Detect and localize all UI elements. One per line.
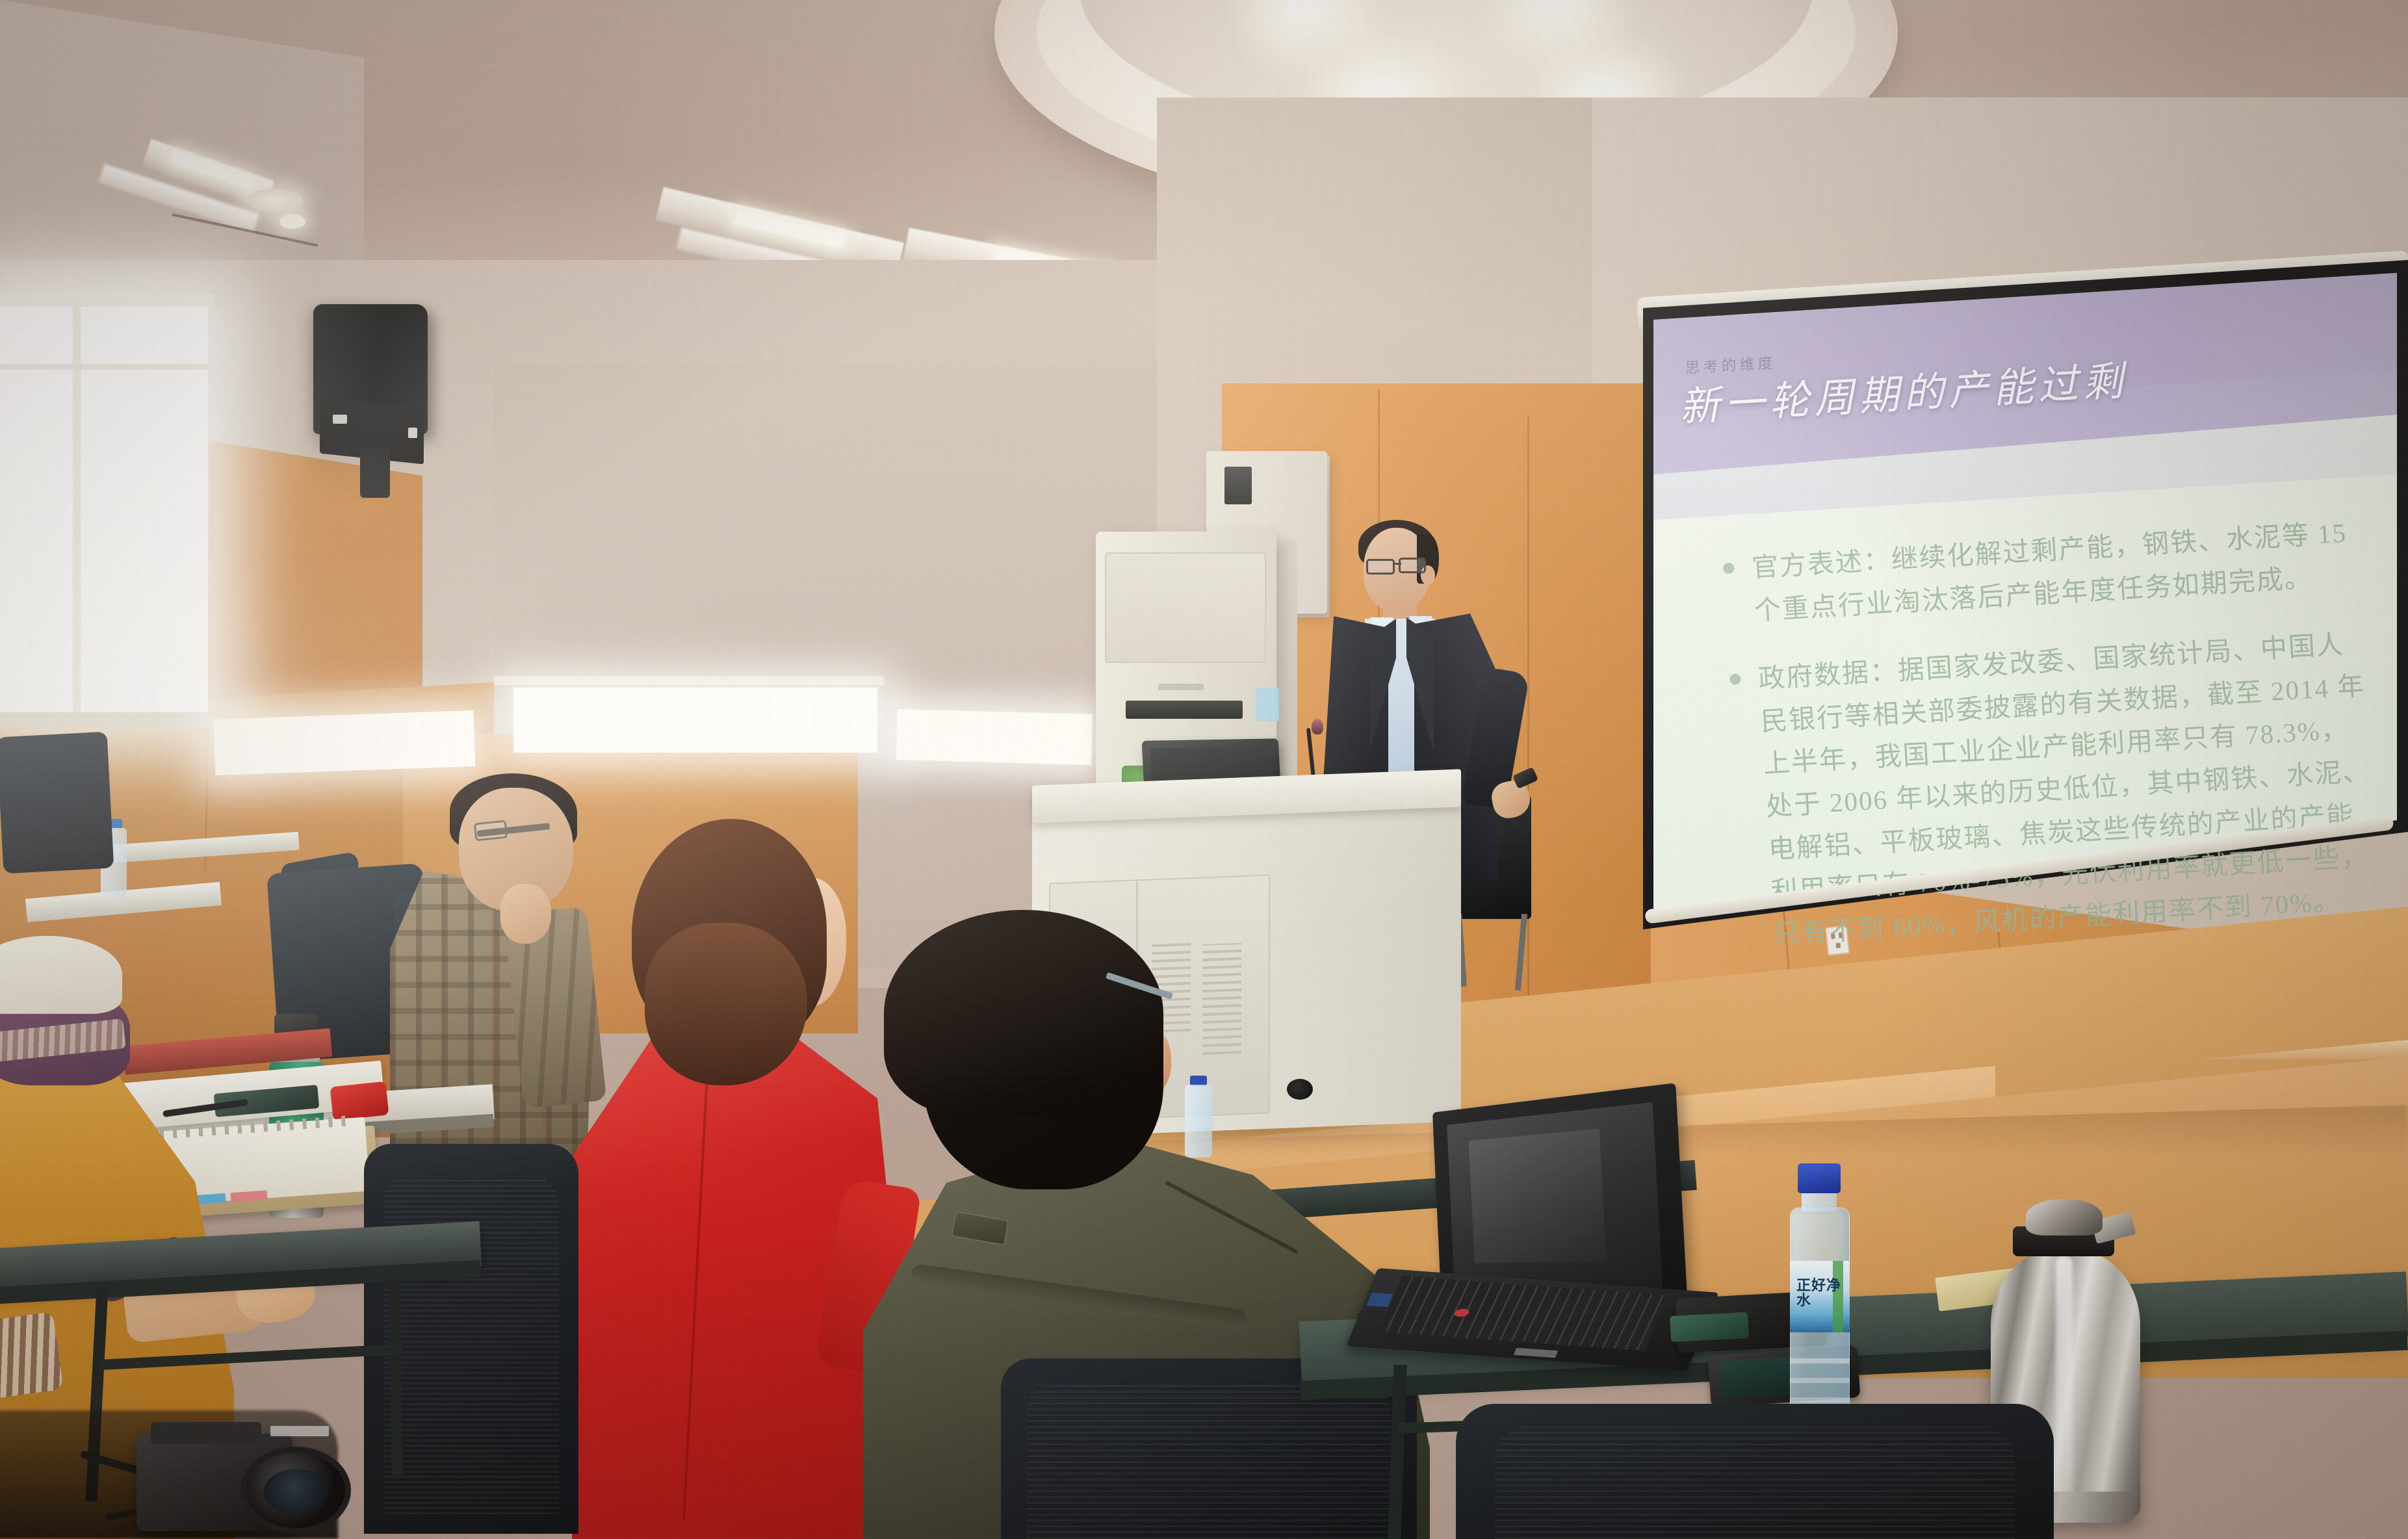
window-back-right xyxy=(896,709,1093,765)
bottle-rib-1 xyxy=(1790,1358,1850,1364)
bullet-dot-icon xyxy=(1729,673,1741,685)
slide-bullet-2: 政府数据：据国家发改委、国家统计局、中国人民银行等相关部委披露的有关数据，截至 … xyxy=(1721,622,2387,959)
bottle-label-text: 正好净水 xyxy=(1796,1278,1843,1308)
camera-top-plate xyxy=(151,1422,261,1444)
audience-hand xyxy=(500,884,551,944)
slide-content: 思考的维度 新一轮周期的产能过剩 官方表述：继续化解过剩产能，钢铁、水泥等 15… xyxy=(1620,216,2408,931)
bullet-dot-icon xyxy=(1723,562,1735,574)
slide-bullet-2-text: 政府数据：据国家发改委、国家统计局、中国人民银行等相关部委披露的有关数据，截至 … xyxy=(1757,629,2371,949)
green-pouch[interactable] xyxy=(1670,1312,1749,1342)
camera-brand-mark xyxy=(270,1426,329,1436)
audience-hair-lower xyxy=(645,923,807,1085)
bottle-rib-3 xyxy=(1790,1397,1850,1403)
window-left-header xyxy=(0,294,214,307)
water-bottle[interactable]: 正好净水 xyxy=(1781,1163,1859,1443)
ac-vent xyxy=(1126,701,1243,719)
window-left-sill xyxy=(0,712,214,727)
slide-bullet-list: 官方表述：继续化解过剩产能，钢铁、水泥等 15 个重点行业淘汰落后产能年度任务如… xyxy=(1714,511,2389,984)
glasses-icon xyxy=(1366,559,1395,575)
thermos-highlight xyxy=(2056,1255,2073,1515)
laptop-screen-glare xyxy=(1469,1128,1607,1263)
wall-downlight-1 xyxy=(247,188,303,212)
glasses-icon xyxy=(1399,558,1426,573)
window-back-center xyxy=(513,688,877,753)
conference-room-photo: 思考的维度 新一轮周期的产能过剩 官方表述：继续化解过剩产能，钢铁、水泥等 15… xyxy=(0,0,2408,1539)
camera-lens-glass xyxy=(264,1469,329,1514)
bottle-neck xyxy=(1802,1191,1837,1211)
slide-bullet-1: 官方表述：继续化解过剩产能，钢铁、水泥等 15 个重点行业淘汰落后产能年度任务如… xyxy=(1714,511,2368,634)
ac-energy-label xyxy=(1256,688,1279,721)
thermos-cap[interactable] xyxy=(2026,1199,2103,1235)
camera xyxy=(78,1417,357,1539)
projection-screen: 思考的维度 新一轮周期的产能过剩 官方表述：继续化解过剩产能，钢铁、水泥等 15… xyxy=(1625,260,2408,929)
audience-hair xyxy=(884,910,1163,1118)
electrical-cabinet-panel xyxy=(1224,467,1252,504)
window-back-left xyxy=(214,710,476,775)
white-hat xyxy=(0,936,122,1014)
speaker-badge-2 xyxy=(408,428,417,438)
glasses-bridge xyxy=(1393,563,1401,565)
chair-mesh xyxy=(1495,1427,2015,1539)
ac-brand-mark xyxy=(1158,684,1204,690)
bottle-cap[interactable] xyxy=(1798,1163,1841,1193)
blind-bar xyxy=(494,676,884,685)
ac-grill xyxy=(1105,552,1266,663)
slide-bullet-1-text: 官方表述：继续化解过剩产能，钢铁、水泥等 15 个重点行业淘汰落后产能年度任务如… xyxy=(1751,517,2348,625)
chair-mesh xyxy=(1027,1384,1391,1539)
bottle-rib-2 xyxy=(1790,1378,1850,1383)
wall-downlight-2 xyxy=(279,214,305,229)
window-left-transom xyxy=(0,364,209,370)
background-chair-left xyxy=(0,732,114,874)
knit-cuff xyxy=(0,1312,64,1403)
stage-chair-leg-2 xyxy=(1515,914,1527,990)
speaker-bracket xyxy=(360,448,390,498)
microphone-icon xyxy=(1312,719,1323,734)
speaker-badge-1 xyxy=(333,415,347,424)
